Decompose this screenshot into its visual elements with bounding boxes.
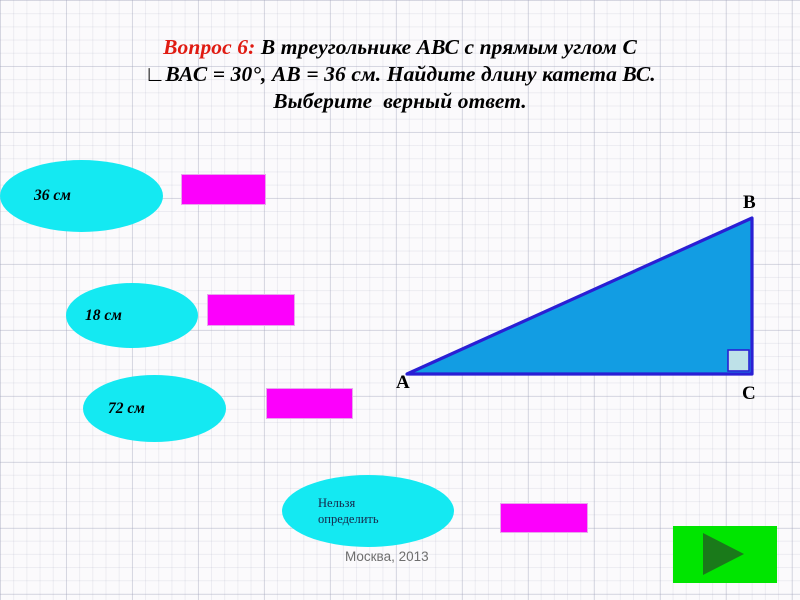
play-icon xyxy=(703,533,744,575)
title-line-3: Выберите верный ответ. xyxy=(40,88,760,115)
triangle-shape xyxy=(407,218,752,374)
title-line-1: Вопрос 6: В треугольнике АВС с прямым уг… xyxy=(40,34,760,61)
answer-option-72cm[interactable]: 72 см xyxy=(83,375,226,442)
question-line-1-text: В треугольнике АВС с прямым углом С xyxy=(255,35,637,59)
magenta-rect-3[interactable] xyxy=(266,388,353,419)
magenta-rect-2[interactable] xyxy=(207,294,295,326)
vertex-label-b: В xyxy=(743,192,756,214)
triangle-svg xyxy=(380,185,780,415)
triangle-figure xyxy=(380,185,780,415)
answer-option-18cm[interactable]: 18 см xyxy=(66,283,198,348)
magenta-rect-1[interactable] xyxy=(181,174,266,205)
right-angle-marker xyxy=(728,350,749,371)
answer-option-label: Нельзя определить xyxy=(282,495,379,527)
question-label: Вопрос 6: xyxy=(163,35,255,59)
footer-text: Москва, 2013 xyxy=(345,549,429,564)
answer-option-cannot-determine[interactable]: Нельзя определить xyxy=(282,475,454,547)
play-button[interactable] xyxy=(673,526,777,583)
slide-canvas: Вопрос 6: В треугольнике АВС с прямым уг… xyxy=(0,0,800,600)
vertex-label-c: С xyxy=(742,383,756,405)
answer-option-36cm[interactable]: 36 см xyxy=(0,160,163,232)
vertex-label-a: А xyxy=(396,372,410,394)
answer-option-label: 72 см xyxy=(83,400,145,418)
answer-option-label: 36 см xyxy=(0,187,71,205)
title-line-2: ∟ВАС = 30°, АВ = 36 см. Найдите длину ка… xyxy=(40,61,760,88)
magenta-rect-4[interactable] xyxy=(500,503,588,533)
page-title: Вопрос 6: В треугольнике АВС с прямым уг… xyxy=(40,34,760,115)
answer-option-label: 18 см xyxy=(66,307,122,325)
